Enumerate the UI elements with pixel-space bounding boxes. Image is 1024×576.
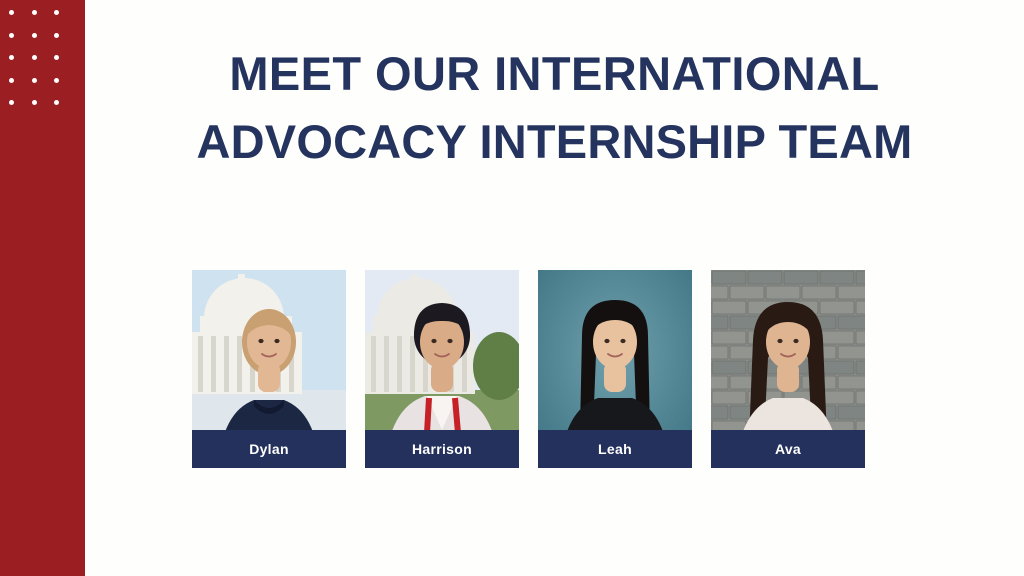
team-member-name-bar: Leah bbox=[538, 430, 692, 468]
title-line-1: MEET OUR INTERNATIONAL bbox=[85, 40, 1024, 108]
team-member-name: Dylan bbox=[249, 441, 289, 457]
decorative-dot bbox=[54, 78, 59, 83]
team-member-name-bar: Harrison bbox=[365, 430, 519, 468]
team-member-card[interactable]: Leah bbox=[538, 270, 692, 468]
team-member-card[interactable]: Dylan bbox=[192, 270, 346, 468]
red-sidebar bbox=[0, 0, 85, 576]
decorative-dot bbox=[9, 33, 14, 38]
team-member-name-bar: Dylan bbox=[192, 430, 346, 468]
team-member-grid: Dylan Harrison bbox=[192, 270, 867, 468]
decorative-dot bbox=[9, 55, 14, 60]
team-member-card[interactable]: Ava bbox=[711, 270, 865, 468]
decorative-dot bbox=[32, 78, 37, 83]
decorative-dot bbox=[32, 100, 37, 105]
decorative-dot bbox=[32, 55, 37, 60]
page-title: MEET OUR INTERNATIONAL ADVOCACY INTERNSH… bbox=[85, 40, 1024, 176]
decorative-dot bbox=[32, 10, 37, 15]
dot-grid-decoration bbox=[9, 10, 71, 106]
team-member-name-bar: Ava bbox=[711, 430, 865, 468]
decorative-dot bbox=[54, 33, 59, 38]
decorative-dot bbox=[54, 10, 59, 15]
team-member-name: Leah bbox=[598, 441, 632, 457]
title-line-2: ADVOCACY INTERNSHIP TEAM bbox=[85, 108, 1024, 176]
decorative-dot bbox=[54, 100, 59, 105]
team-member-card[interactable]: Harrison bbox=[365, 270, 519, 468]
decorative-dot bbox=[9, 78, 14, 83]
decorative-dot bbox=[54, 55, 59, 60]
decorative-dot bbox=[32, 33, 37, 38]
team-member-name: Ava bbox=[775, 441, 801, 457]
decorative-dot bbox=[9, 10, 14, 15]
decorative-dot bbox=[9, 100, 14, 105]
slide-canvas: MEET OUR INTERNATIONAL ADVOCACY INTERNSH… bbox=[0, 0, 1024, 576]
team-member-name: Harrison bbox=[412, 441, 472, 457]
